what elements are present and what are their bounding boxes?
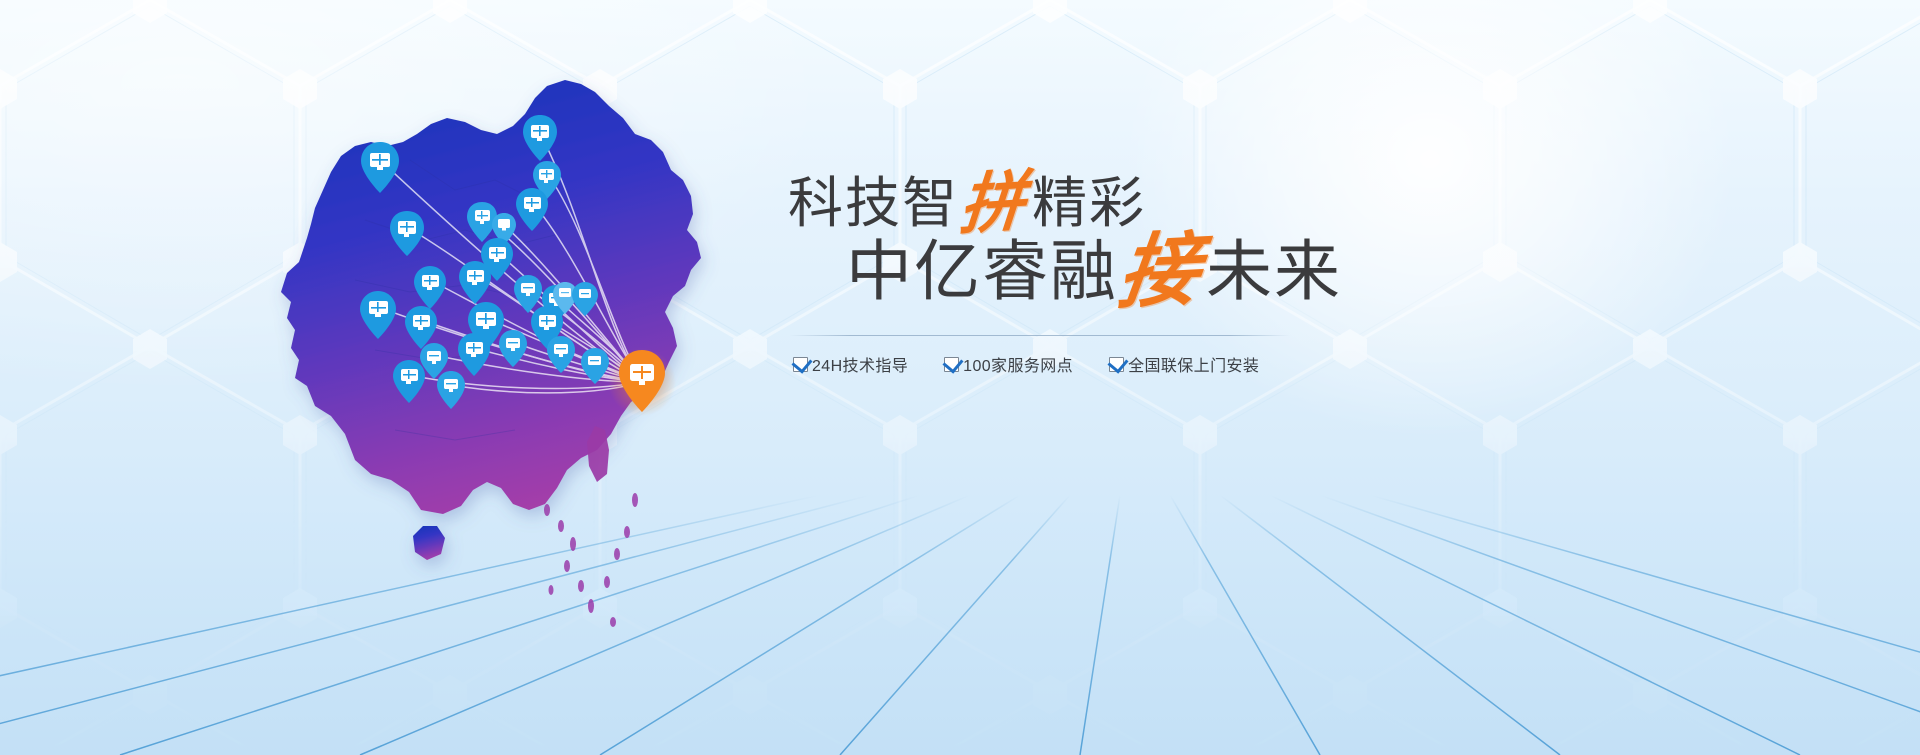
feature-label: 全国联保上门安装 — [1128, 352, 1259, 376]
headline-line-2: 中亿睿融接未来 — [780, 238, 1340, 306]
headline-line1-accent: 拼 — [957, 168, 1030, 240]
feature-label: 24H技术指导 — [812, 352, 908, 376]
checkbox-checked-icon — [1109, 357, 1124, 372]
headline-line2-pre: 中亿睿融 — [846, 234, 1118, 308]
feature-item-2: 全国联保上门安装 — [1109, 352, 1259, 376]
headline-line-1: 科技智拼精彩 — [780, 175, 1340, 232]
headline-line1-post: 精彩 — [1032, 172, 1146, 234]
checkbox-checked-icon — [944, 357, 959, 372]
checkbox-checked-icon — [793, 357, 808, 372]
headline-line2-post: 未来 — [1206, 234, 1342, 308]
china-map — [195, 30, 835, 630]
feature-list: 24H技术指导 100家服务网点 全国联保上门安装 — [793, 352, 1259, 376]
headline-block: 科技智拼精彩 中亿睿融接未来 — [780, 175, 1340, 306]
feature-item-1: 100家服务网点 — [944, 352, 1073, 376]
headline-divider — [790, 335, 1290, 336]
feature-item-0: 24H技术指导 — [793, 352, 908, 376]
headline-line1-pre: 科技智 — [788, 172, 959, 234]
promo-banner: 科技智拼精彩 中亿睿融接未来 24H技术指导 100家服务网点 全国联保上门安装 — [0, 0, 1920, 755]
headline-line2-accent: 接 — [1114, 230, 1206, 316]
feature-label: 100家服务网点 — [963, 352, 1073, 376]
